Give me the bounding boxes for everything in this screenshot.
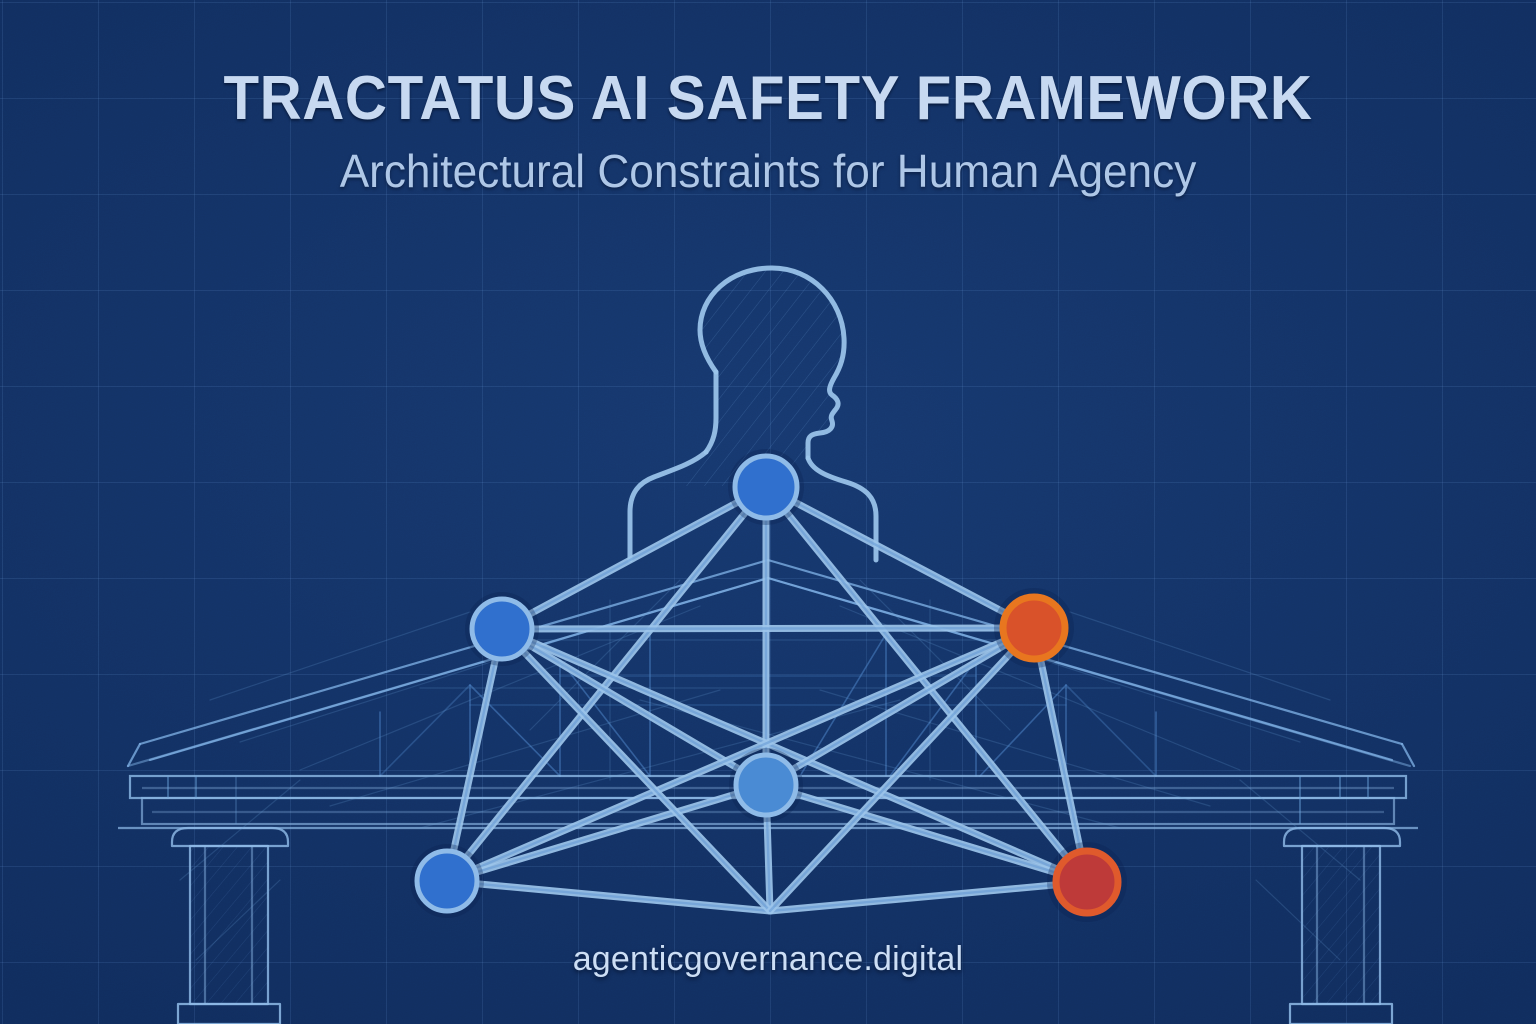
right-node[interactable] [994,588,1074,668]
node-disc[interactable] [735,456,797,518]
node-disc[interactable] [417,851,477,911]
node-disc[interactable] [736,755,796,815]
node-disc[interactable] [472,599,532,659]
bottom-right-node[interactable] [1047,842,1127,922]
node-disc[interactable] [1003,597,1065,659]
network-edge-core [447,785,766,881]
network-edge-core [502,487,766,629]
network-edge-core [770,882,1087,911]
left-node[interactable] [465,592,539,666]
bottom-left-node[interactable] [410,844,484,918]
title-block: TRACTATUS AI SAFETY FRAMEWORK Architectu… [0,66,1536,196]
network-edge-core [766,487,1034,628]
page-title: TRACTATUS AI SAFETY FRAMEWORK [46,66,1490,132]
footer-block: agenticgovernance.digital [0,940,1536,979]
footer-url[interactable]: agenticgovernance.digital [0,940,1536,979]
network-edge-core [502,628,1034,629]
network-edge-core [766,487,1087,882]
top-node[interactable] [728,449,804,525]
poster-canvas: TRACTATUS AI SAFETY FRAMEWORK Architectu… [0,0,1536,1024]
node-disc[interactable] [1056,851,1118,913]
network-edge-core [447,487,766,881]
page-subtitle: Architectural Constraints for Human Agen… [31,146,1506,197]
network-edge-core [447,881,770,911]
network-edges [447,487,1087,911]
center-node[interactable] [729,748,803,822]
network-edge-core [502,629,770,911]
